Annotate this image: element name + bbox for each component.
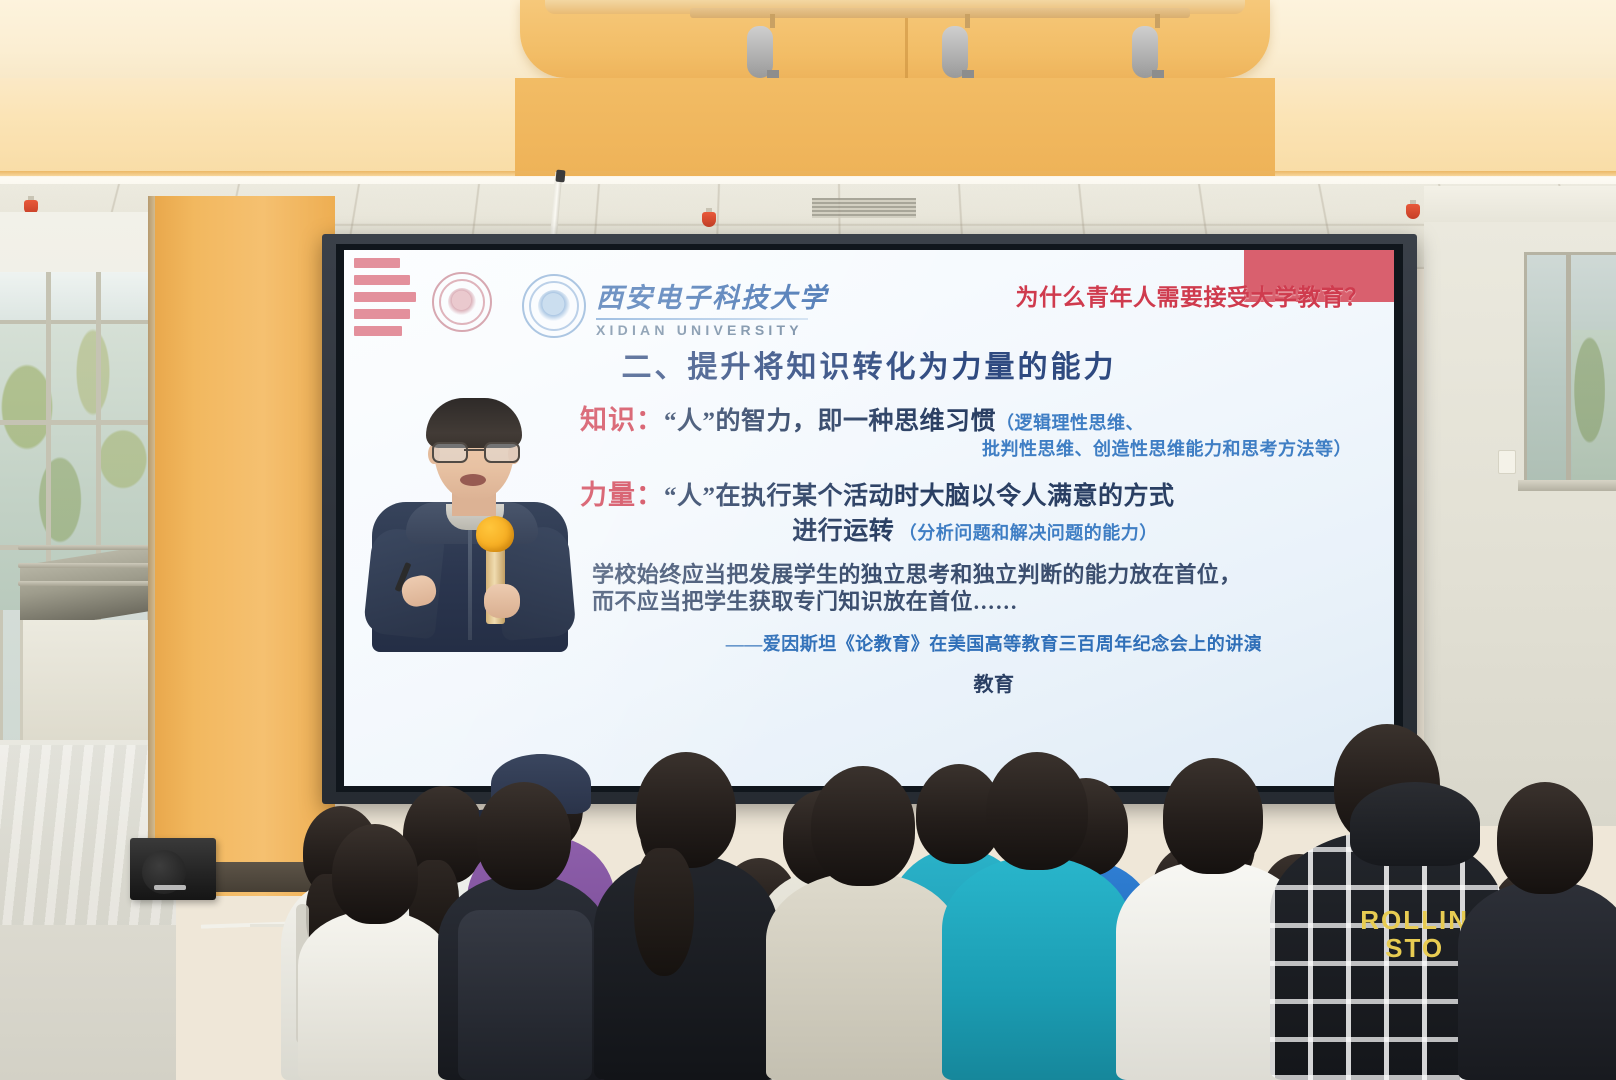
presenter-hair [426, 398, 522, 448]
track-light-icon [760, 14, 786, 78]
light-switch-icon[interactable] [1498, 450, 1516, 474]
wordmark-rule [596, 318, 808, 320]
definition-row-power: 力量：“人”在执行某个活动时大脑以令人满意的方式 进行运转 （分析问题和解决问题… [580, 473, 1370, 547]
audience: AW [0, 560, 1616, 1080]
definition-body: “人”的智力，即一种思维习惯 [664, 408, 996, 435]
university-name-en: XIDIAN UNIVERSITY [596, 322, 828, 338]
window-mullion [0, 420, 150, 425]
sprinkler-icon [1404, 200, 1422, 220]
university-name-cn: 西安电子科技大学 [596, 276, 828, 315]
audience-member [300, 830, 450, 1080]
audience-member [944, 748, 1130, 1080]
definition-note: 进行运转 [792, 518, 894, 545]
ceiling-band-orange [515, 78, 1275, 182]
jacket-graphic-text: ROLLIN STO [1360, 907, 1469, 962]
lecture-hall-photo: 西安电子科技大学 XIDIAN UNIVERSITY 为什么青年人需要接受大学教… [0, 0, 1616, 1080]
ceiling-vent-icon [812, 198, 916, 218]
antenna-cap [555, 170, 565, 183]
right-window-trees [1572, 330, 1616, 480]
track-light-icon [1145, 14, 1171, 78]
microphone-icon [476, 516, 514, 552]
definition-term: 知识： [580, 405, 664, 435]
xidian-seal-blue-icon [522, 274, 586, 338]
university-wordmark: 西安电子科技大学 XIDIAN UNIVERSITY [596, 276, 828, 338]
audience-member [768, 770, 958, 1080]
right-window-sill [1518, 480, 1616, 491]
jacket-graphic-line1: ROLLIN [1360, 905, 1469, 935]
slide-section-heading: 二、提升将知识转化为力量的能力 [344, 342, 1394, 386]
slide-definition-list: 知识：“人”的智力，即一种思维习惯（逻辑理性思维、 批判性思维、创造性思维能力和… [580, 398, 1370, 554]
xidian-seal-red-icon [432, 272, 492, 332]
right-window-mullion [1566, 252, 1571, 482]
audience-member [1460, 780, 1616, 1080]
definition-continuation: 进行运转 （分析问题和解决问题的能力） [580, 511, 1370, 547]
slide-header-title: 为什么青年人需要接受大学教育？ [1016, 278, 1369, 312]
definition-note-2: 批判性思维、创造性思维能力和思考方法等） [580, 435, 1370, 461]
slide-stripe-decoration [354, 258, 416, 336]
definition-note-2: （分析问题和解决问题的能力） [899, 523, 1158, 543]
glasses-icon [432, 442, 516, 459]
definition-note: （逻辑理性思维、 [996, 413, 1144, 433]
track-light-icon [955, 14, 981, 78]
audience-member [596, 750, 776, 1080]
sprinkler-icon [700, 208, 718, 228]
audience-member [440, 780, 608, 1080]
definition-body: “人”在执行某个活动时大脑以令人满意的方式 [664, 483, 1175, 510]
right-wall-header [1424, 186, 1616, 222]
definition-row-knowledge: 知识：“人”的智力，即一种思维习惯（逻辑理性思维、 批判性思维、创造性思维能力和… [580, 398, 1370, 461]
jacket-graphic-line2: STO [1385, 933, 1444, 963]
definition-term: 力量： [580, 480, 664, 510]
presenter-mouth [460, 474, 486, 486]
window-transom [0, 272, 150, 324]
